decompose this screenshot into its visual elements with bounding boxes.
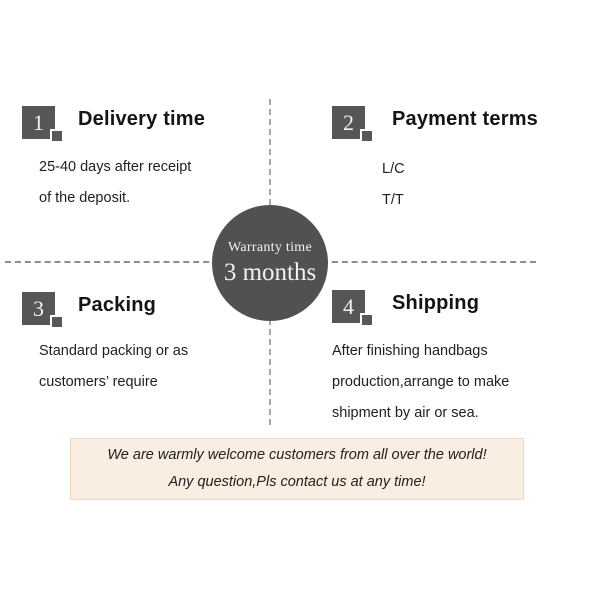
body-line: shipment by air or sea. [332,398,582,429]
service-terms-infographic: 1 Delivery time 25-40 days after receipt… [0,0,600,600]
quadrant-header: 4 Shipping [332,288,582,328]
body-line: After finishing handbags [332,336,582,367]
quadrant-title-payment-terms: Payment terms [392,108,538,131]
quadrant-title-packing: Packing [78,294,156,317]
body-line: L/C [382,154,582,185]
body-line: Standard packing or as [39,336,262,367]
quadrant-title-shipping: Shipping [392,292,479,315]
warranty-time-label: Warranty time [228,239,312,257]
welcome-banner-line-2: Any question,Pls contact us at any time! [168,469,425,496]
quadrant-title-delivery-time: Delivery time [78,108,205,131]
body-line: production,arrange to make [332,367,582,398]
body-line: T/T [382,185,582,216]
quadrant-shipping: 4 Shipping After finishing handbags prod… [332,288,582,429]
badge-accent-square-4 [360,313,374,327]
quadrant-header: 1 Delivery time [22,104,257,144]
badge-accent-square-2 [360,129,374,143]
badge-accent-square-3 [50,315,64,329]
quadrant-delivery-time: 1 Delivery time 25-40 days after receipt… [22,104,257,214]
warranty-time-value: 3 months [224,258,316,288]
quadrant-packing: 3 Packing Standard packing or as custome… [22,290,262,398]
quadrant-body-shipping: After finishing handbags production,arra… [332,336,582,429]
quadrant-body-delivery-time: 25-40 days after receipt of the deposit. [22,152,257,214]
badge-accent-square-1 [50,129,64,143]
body-line: customers’ require [39,367,262,398]
welcome-banner-line-1: We are warmly welcome customers from all… [107,442,486,469]
quadrant-body-payment-terms: L/C T/T [332,154,582,216]
body-line: of the deposit. [39,183,257,214]
quadrant-payment-terms: 2 Payment terms L/C T/T [332,104,582,216]
warranty-time-circle: Warranty time 3 months [212,205,328,321]
body-line: 25-40 days after receipt [39,152,257,183]
quadrant-header: 2 Payment terms [332,104,582,144]
quadrant-body-packing: Standard packing or as customers’ requir… [22,336,262,398]
welcome-banner: We are warmly welcome customers from all… [70,438,524,500]
